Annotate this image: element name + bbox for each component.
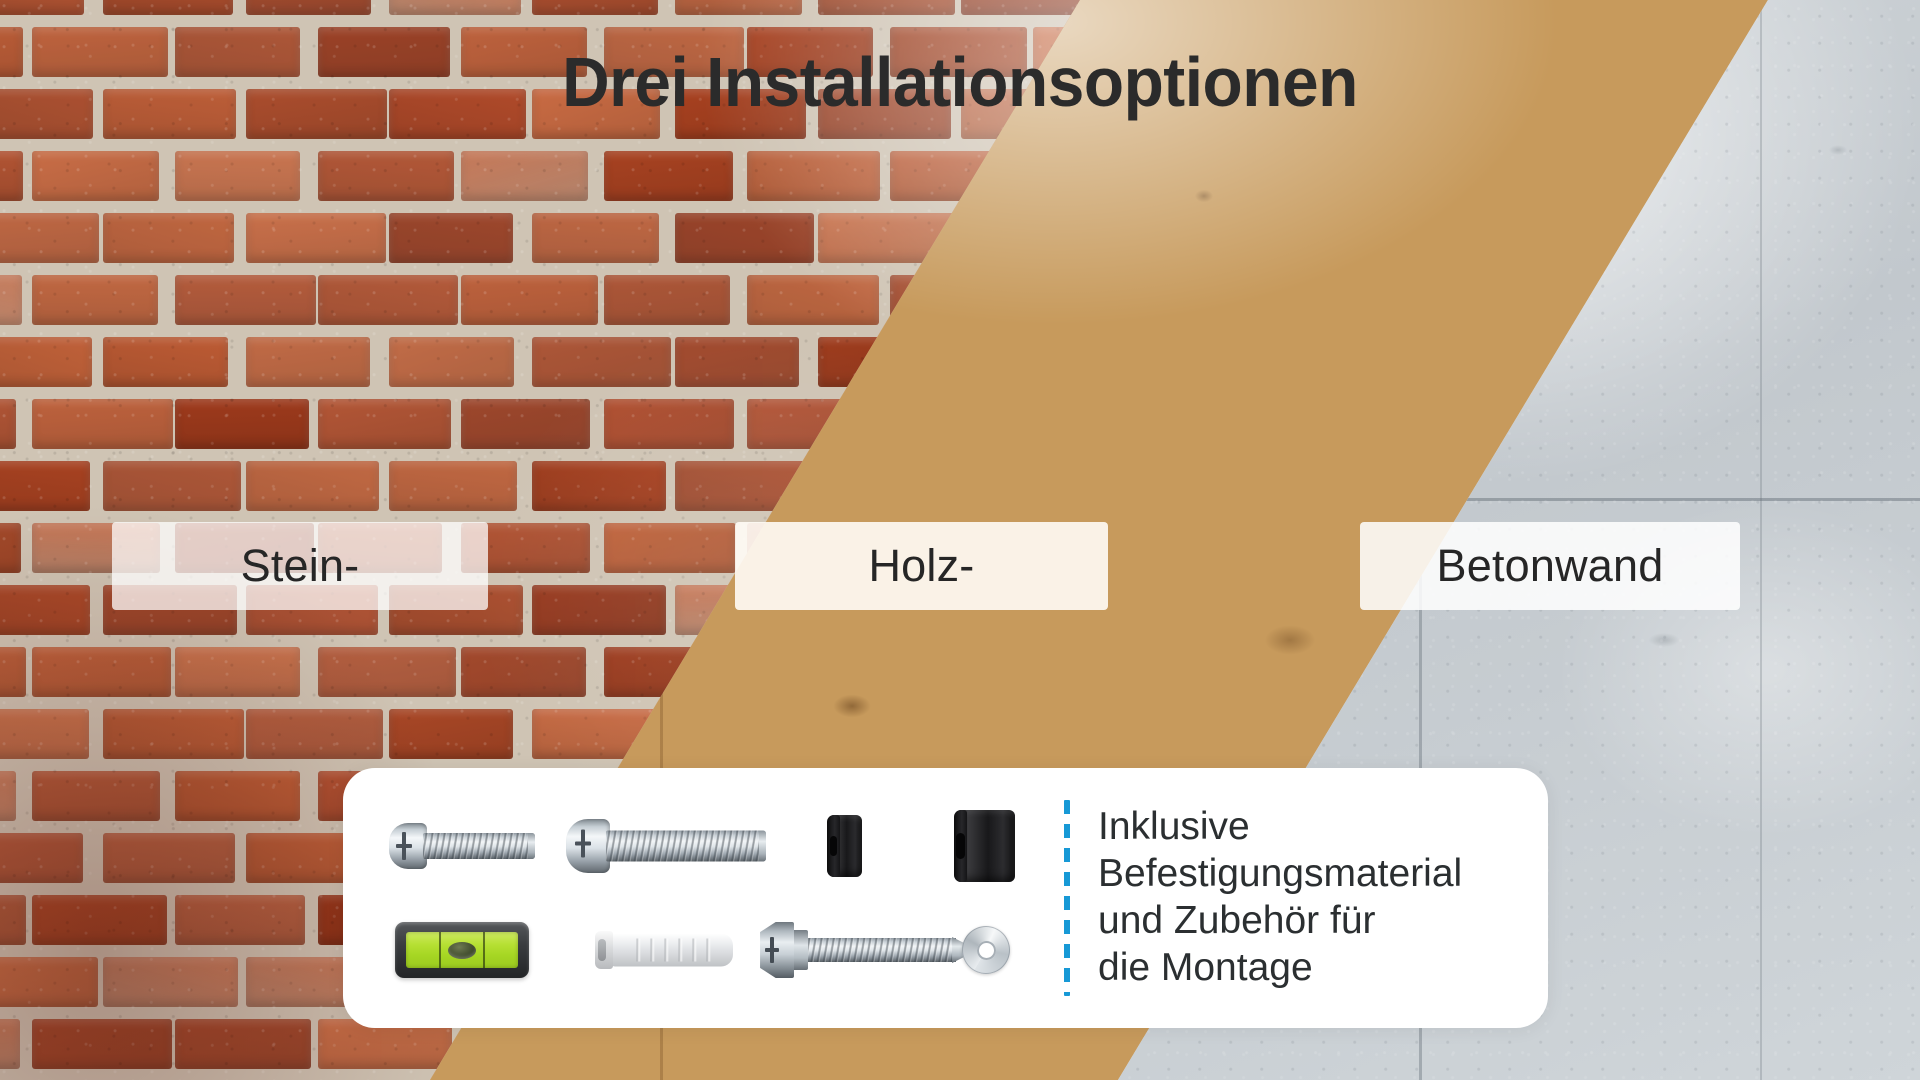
brick bbox=[461, 151, 588, 201]
brick bbox=[0, 213, 99, 263]
brick bbox=[103, 0, 233, 15]
spirit-level-icon bbox=[371, 904, 553, 996]
spirit-level bbox=[395, 922, 529, 978]
brick bbox=[461, 275, 598, 325]
hardware-parts-row bbox=[371, 904, 1058, 996]
brick bbox=[604, 399, 734, 449]
brick bbox=[0, 709, 89, 759]
brick bbox=[32, 399, 173, 449]
phillips-cross-icon bbox=[396, 832, 412, 860]
brick bbox=[0, 275, 22, 325]
machine-screw-long-icon bbox=[555, 800, 778, 892]
spacer-sleeve-large-icon bbox=[913, 800, 1058, 892]
brick bbox=[175, 151, 300, 201]
wall-label-stone-text: Stein- bbox=[241, 540, 360, 592]
brick bbox=[604, 523, 736, 573]
wall-plug-collar bbox=[595, 931, 613, 969]
screw-thread bbox=[423, 833, 535, 859]
wall-plug-body bbox=[611, 934, 733, 967]
screw-head bbox=[389, 823, 427, 869]
hardware-card: Inklusive Befestigungsmaterial und Zubeh… bbox=[343, 768, 1548, 1028]
brick bbox=[461, 647, 586, 697]
brick bbox=[747, 275, 879, 325]
brick bbox=[175, 895, 305, 945]
brick bbox=[389, 709, 513, 759]
brick bbox=[0, 957, 98, 1007]
brick bbox=[0, 399, 16, 449]
brick bbox=[0, 0, 84, 15]
hardware-note-text: Inklusive Befestigungsmaterial und Zubeh… bbox=[1098, 804, 1462, 991]
brick bbox=[818, 0, 955, 15]
brick bbox=[532, 585, 666, 635]
lag-bolt-hex-head bbox=[760, 922, 794, 978]
brick bbox=[175, 647, 300, 697]
brick bbox=[103, 709, 244, 759]
brick bbox=[747, 151, 880, 201]
brick bbox=[0, 337, 92, 387]
brick bbox=[32, 151, 159, 201]
wall-label-concrete: Betonwand bbox=[1360, 522, 1740, 610]
machine-screw-short-icon bbox=[371, 800, 555, 892]
brick bbox=[246, 709, 383, 759]
brick bbox=[103, 461, 241, 511]
page-title: Drei Installationsoptionen bbox=[58, 46, 1863, 119]
screw-thread bbox=[606, 831, 766, 862]
brick bbox=[389, 461, 517, 511]
brick bbox=[246, 337, 370, 387]
brick bbox=[318, 647, 456, 697]
wall-label-wood: Holz- bbox=[735, 522, 1108, 610]
installation-options-banner: Drei Installationsoptionen Stein- Holz- … bbox=[0, 0, 1920, 1080]
brick bbox=[0, 647, 26, 697]
brick bbox=[246, 0, 371, 15]
brick bbox=[675, 337, 799, 387]
flat-washer bbox=[962, 926, 1010, 974]
phillips-cross-icon bbox=[575, 830, 594, 863]
brick bbox=[389, 213, 513, 263]
spacer-sleeve-large bbox=[955, 810, 1015, 882]
brick bbox=[246, 213, 386, 263]
hardware-parts-area bbox=[343, 768, 1058, 1028]
brick bbox=[532, 461, 666, 511]
brick bbox=[389, 337, 514, 387]
brick bbox=[961, 0, 1091, 15]
flat-washer-icon bbox=[914, 904, 1058, 996]
dashed-divider bbox=[1064, 800, 1070, 996]
brick bbox=[32, 895, 167, 945]
brick bbox=[0, 833, 83, 883]
wall-label-wood-text: Holz- bbox=[868, 540, 974, 592]
brick bbox=[175, 1019, 311, 1069]
spirit-level-bubble bbox=[448, 942, 476, 959]
wall-plug bbox=[595, 931, 733, 969]
brick bbox=[604, 151, 733, 201]
brick bbox=[175, 275, 316, 325]
brick bbox=[318, 399, 451, 449]
brick bbox=[246, 461, 379, 511]
brick bbox=[32, 1019, 172, 1069]
brick bbox=[175, 771, 300, 821]
brick bbox=[103, 213, 234, 263]
screw-head bbox=[566, 819, 610, 873]
spacer-sleeve-small bbox=[828, 815, 862, 877]
brick bbox=[175, 399, 309, 449]
brick bbox=[318, 275, 458, 325]
brick bbox=[0, 151, 23, 201]
brick bbox=[32, 647, 171, 697]
screw-tip bbox=[528, 833, 535, 859]
brick bbox=[32, 275, 158, 325]
wall-plug-ribs bbox=[627, 939, 719, 962]
screw-shaft bbox=[423, 833, 535, 859]
brick bbox=[103, 833, 235, 883]
brick bbox=[0, 461, 90, 511]
brick bbox=[532, 0, 658, 15]
brick bbox=[103, 957, 238, 1007]
brick bbox=[32, 771, 160, 821]
brick bbox=[461, 399, 590, 449]
wall-label-concrete-text: Betonwand bbox=[1437, 540, 1664, 592]
brick bbox=[389, 0, 521, 15]
wall-label-stone: Stein- bbox=[112, 522, 488, 610]
spirit-level-vial bbox=[406, 932, 518, 968]
wall-plug-icon bbox=[553, 904, 774, 996]
brick bbox=[604, 275, 730, 325]
brick bbox=[532, 213, 659, 263]
screw-shaft bbox=[606, 831, 766, 862]
hardware-parts-row bbox=[371, 800, 1058, 892]
brick bbox=[0, 523, 21, 573]
brick bbox=[675, 0, 802, 15]
brick bbox=[0, 771, 16, 821]
brick bbox=[0, 585, 90, 635]
hardware-note: Inklusive Befestigungsmaterial und Zubeh… bbox=[1058, 768, 1548, 1028]
screw-tip bbox=[759, 831, 766, 862]
hex-slot-icon bbox=[765, 937, 779, 963]
brick bbox=[532, 337, 671, 387]
brick bbox=[318, 151, 454, 201]
brick bbox=[103, 337, 228, 387]
brick bbox=[0, 27, 23, 77]
brick bbox=[0, 1019, 20, 1069]
brick bbox=[0, 895, 26, 945]
spacer-sleeve-small-icon bbox=[777, 800, 912, 892]
lag-bolt-icon bbox=[774, 904, 914, 996]
brick bbox=[675, 213, 814, 263]
